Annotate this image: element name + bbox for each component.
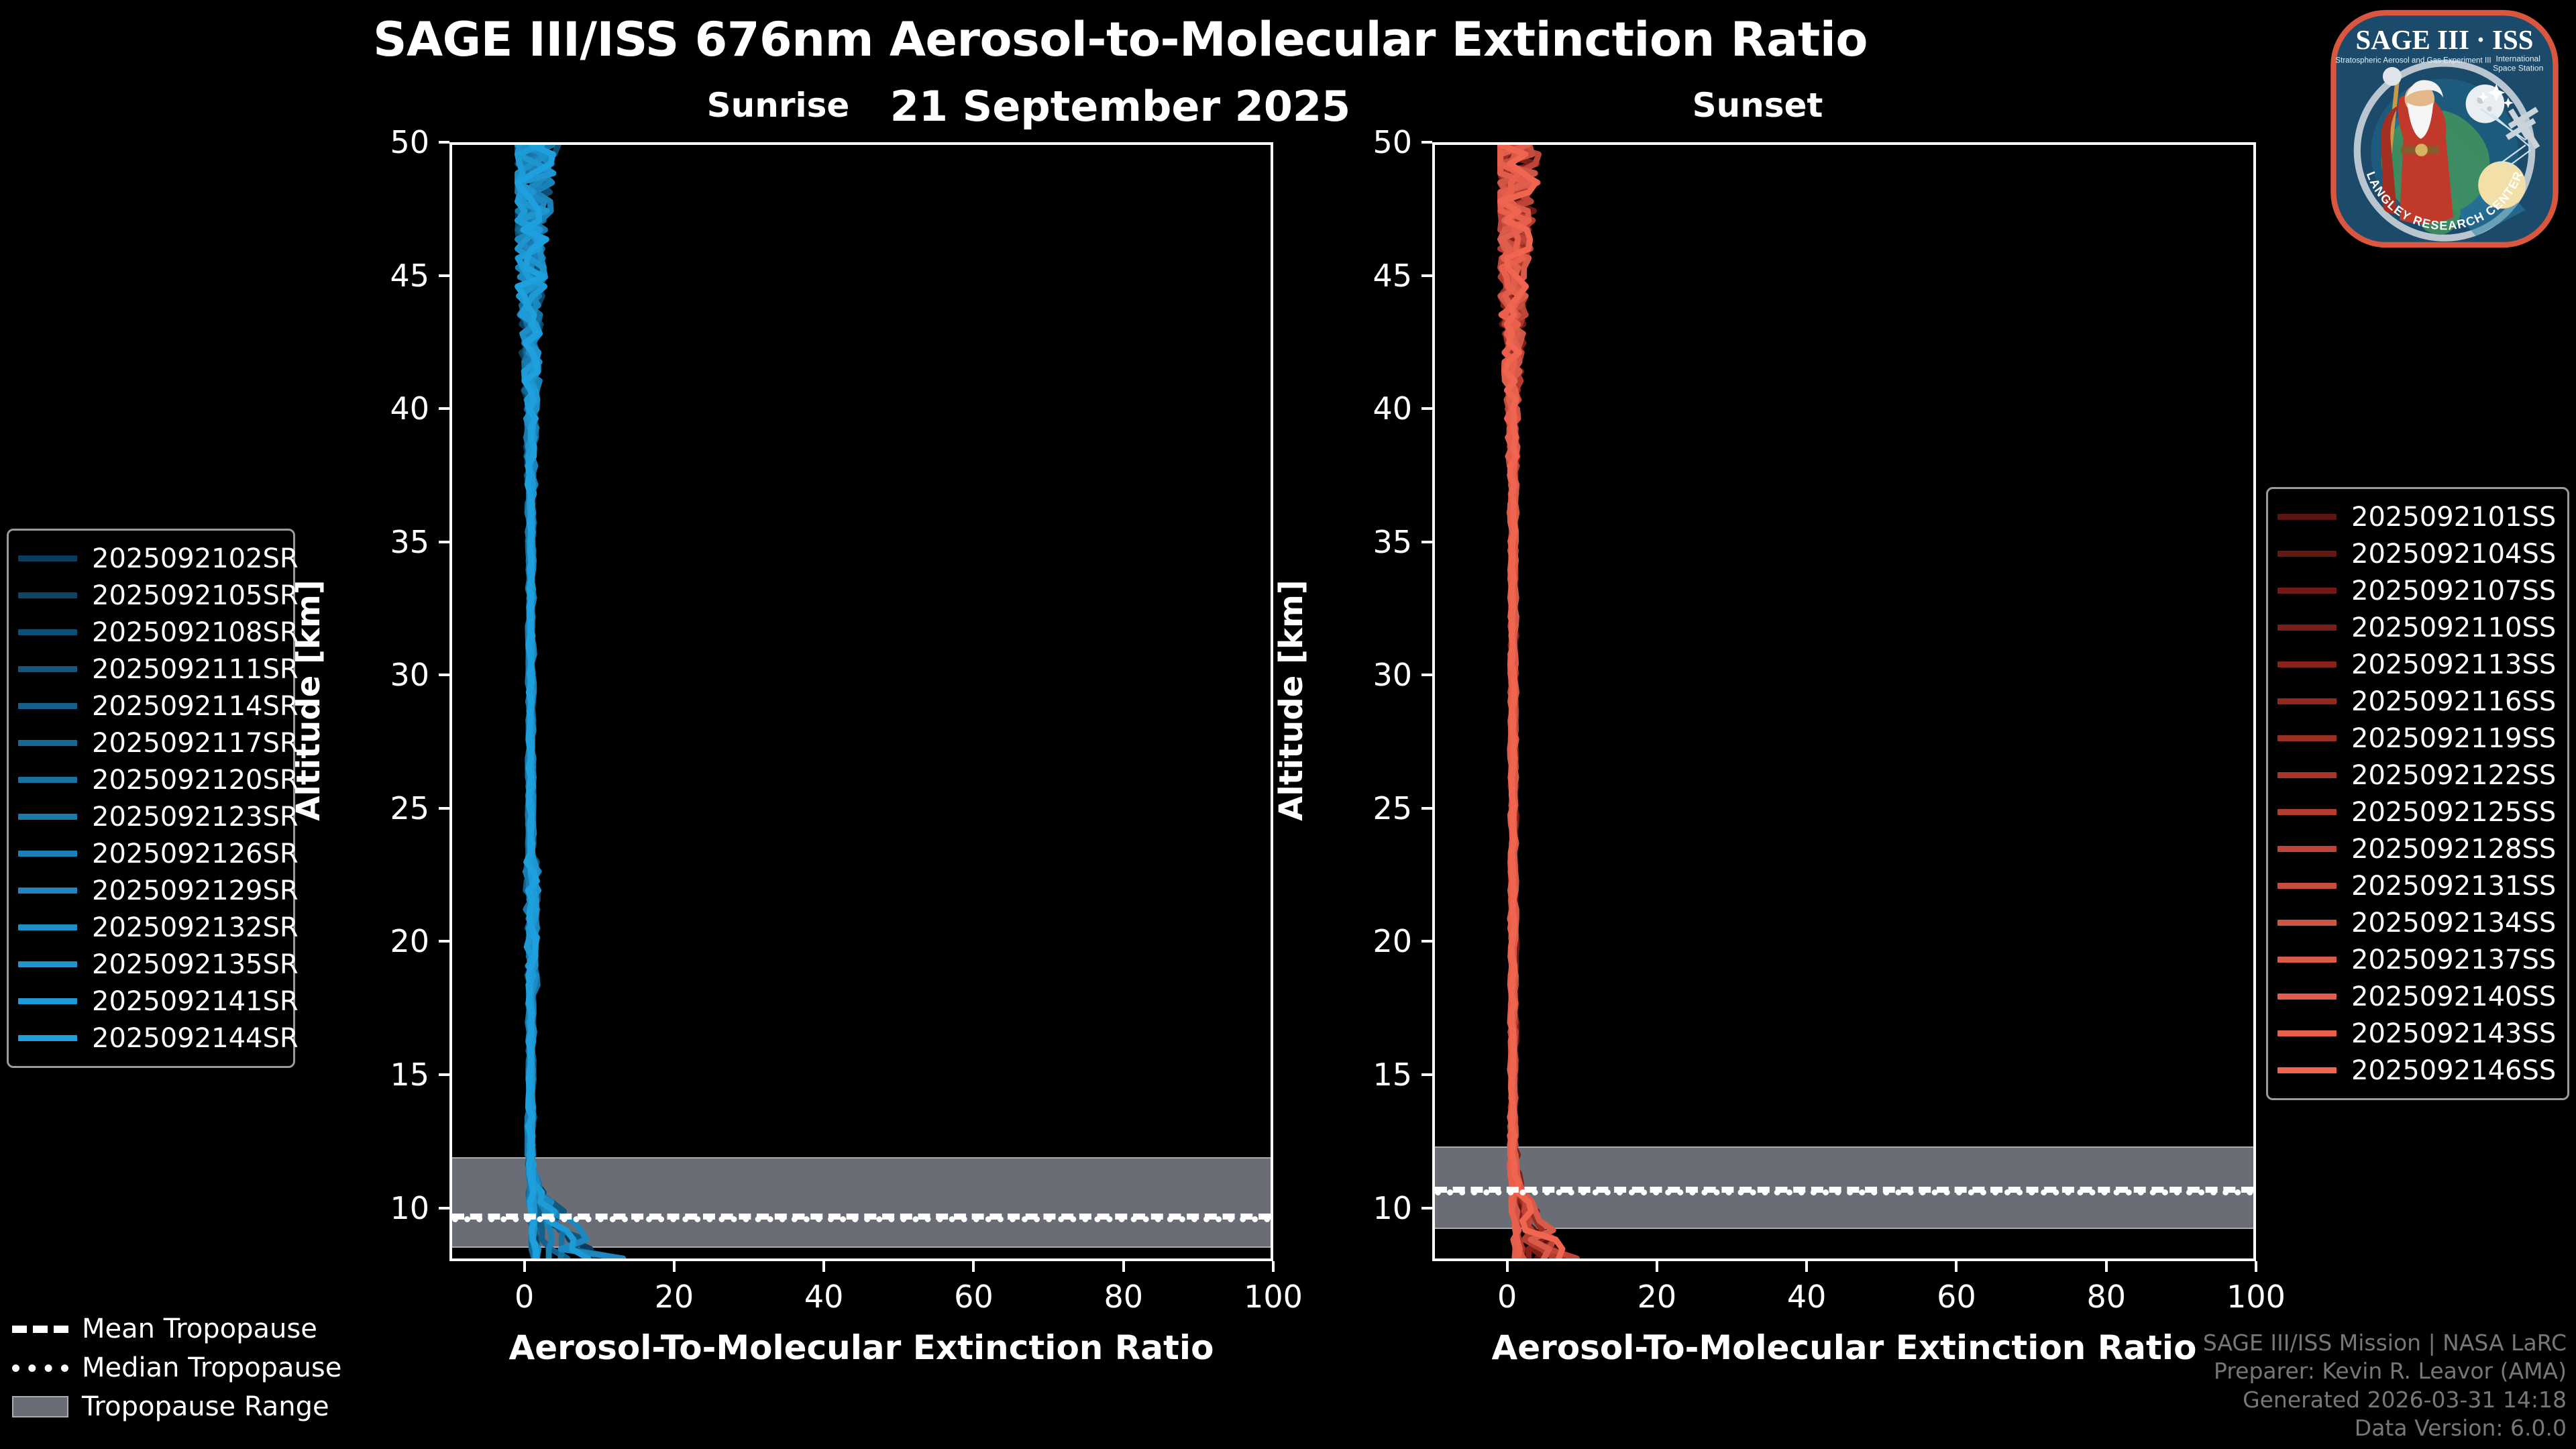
y-axis-tick-label: 10 [1332, 1190, 1412, 1226]
legend-color-swatch [2277, 735, 2337, 741]
y-axis-tick [439, 541, 449, 543]
x-axis-tick [2255, 1261, 2257, 1272]
x-axis-tick [523, 1261, 526, 1272]
legend-color-swatch [2277, 698, 2337, 704]
legend-item-2025092137SS[interactable]: 2025092137SS [2277, 941, 2557, 978]
legend-color-swatch [18, 703, 77, 709]
x-axis-tick-label: 0 [1497, 1279, 1517, 1315]
legend-color-swatch [2277, 514, 2337, 520]
x-axis-tick-label: 80 [1104, 1279, 1143, 1315]
legend-event-label: 2025092119SS [2351, 723, 2556, 754]
legend-item-2025092135SR[interactable]: 2025092135SR [18, 946, 282, 983]
x-axis-tick [673, 1261, 676, 1272]
legend-color-swatch [2277, 920, 2337, 926]
y-axis-tick-label: 15 [1332, 1057, 1412, 1093]
legend-event-label: 2025092108SR [92, 617, 299, 648]
legend-color-swatch [2277, 809, 2337, 815]
legend-item-2025092143SS[interactable]: 2025092143SS [2277, 1015, 2557, 1052]
y-axis-tick-label: 50 [349, 124, 429, 160]
legend-item-2025092105SR[interactable]: 2025092105SR [18, 577, 282, 614]
legend-event-label: 2025092131SS [2351, 871, 2556, 902]
legend-item-2025092129SR[interactable]: 2025092129SR [18, 872, 282, 909]
legend-event-label: 2025092110SS [2351, 612, 2556, 643]
legend-color-swatch [18, 666, 77, 672]
y-axis-tick [439, 940, 449, 943]
legend-event-label: 2025092120SR [92, 765, 299, 796]
y-axis-tick [1421, 674, 1432, 676]
legend-color-swatch [2277, 883, 2337, 889]
date-subtitle: 21 September 2025 [0, 82, 2241, 131]
legend-item-2025092126SR[interactable]: 2025092126SR [18, 835, 282, 872]
y-axis-tick [1421, 807, 1432, 810]
y-axis-tick [439, 1073, 449, 1076]
dotted-line-icon [12, 1358, 68, 1378]
legend-item-2025092104SS[interactable]: 2025092104SS [2277, 535, 2557, 572]
legend-item-2025092134SS[interactable]: 2025092134SS [2277, 904, 2557, 941]
median-tropopause-label: Median Tropopause [82, 1352, 341, 1383]
legend-event-label: 2025092126SR [92, 839, 299, 869]
x-axis-tick-label: 100 [2226, 1279, 2286, 1315]
legend-item-2025092119SS[interactable]: 2025092119SS [2277, 720, 2557, 757]
credits-block: SAGE III/ISS Mission | NASA LaRC Prepare… [2203, 1329, 2567, 1442]
legend-event-label: 2025092105SR [92, 580, 299, 611]
sunrise-series-legend[interactable]: 2025092102SR2025092105SR2025092108SR2025… [7, 529, 295, 1068]
x-axis-tick-label: 40 [1787, 1279, 1827, 1315]
credits-line-preparer: Preparer: Kevin R. Leavor (AMA) [2203, 1357, 2567, 1385]
legend-color-swatch [2277, 551, 2337, 557]
y-axis-tick [1421, 274, 1432, 277]
x-axis-tick [1955, 1261, 1957, 1272]
svg-text:International: International [2495, 54, 2540, 64]
legend-event-label: 2025092132SR [92, 912, 299, 943]
legend-item-2025092141SR[interactable]: 2025092141SR [18, 983, 282, 1020]
y-axis-tick [1421, 940, 1432, 943]
sunset-x-axis-label: Aerosol-To-Molecular Extinction Ratio [1432, 1328, 2256, 1367]
y-axis-tick [1421, 407, 1432, 410]
y-axis-tick [1421, 141, 1432, 144]
legend-item-2025092123SR[interactable]: 2025092123SR [18, 798, 282, 835]
sunset-panel-title: Sunset [1677, 86, 1838, 125]
legend-item-2025092146SS[interactable]: 2025092146SS [2277, 1052, 2557, 1089]
legend-event-label: 2025092125SS [2351, 797, 2556, 828]
filled-band-icon [12, 1397, 68, 1417]
legend-item-2025092111SR[interactable]: 2025092111SR [18, 651, 282, 688]
legend-event-label: 2025092143SS [2351, 1018, 2556, 1049]
legend-color-swatch [18, 777, 77, 783]
legend-color-swatch [18, 888, 77, 894]
legend-color-swatch [18, 961, 77, 967]
tropopause-range-label: Tropopause Range [82, 1391, 329, 1422]
legend-color-swatch [18, 998, 77, 1004]
x-axis-tick-label: 0 [515, 1279, 534, 1315]
legend-event-label: 2025092114SR [92, 691, 299, 722]
mean-tropopause-line [1435, 1187, 2253, 1193]
y-axis-tick [439, 274, 449, 277]
y-axis-tick [439, 807, 449, 810]
y-axis-tick [1421, 1073, 1432, 1076]
legend-item-2025092102SR[interactable]: 2025092102SR [18, 540, 282, 577]
y-axis-tick-label: 35 [349, 524, 429, 560]
sage-iii-iss-logo-icon: SAGE III · ISS Stratospheric Aerosol and… [2320, 4, 2569, 254]
y-axis-tick [1421, 1207, 1432, 1210]
legend-color-swatch [2277, 588, 2337, 594]
x-axis-tick-label: 80 [2086, 1279, 2126, 1315]
tropopause-legend: Mean Tropopause Median Tropopause Tropop… [12, 1309, 334, 1426]
legend-item-median-tropopause: Median Tropopause [12, 1348, 334, 1387]
legend-color-swatch [18, 1035, 77, 1041]
x-axis-tick-label: 20 [1638, 1279, 1677, 1315]
legend-color-swatch [2277, 772, 2337, 778]
legend-color-swatch [18, 629, 77, 635]
sunset-series-legend[interactable]: 2025092101SS2025092104SS2025092107SS2025… [2266, 487, 2569, 1100]
sunrise-plot-area [449, 142, 1273, 1261]
legend-event-label: 2025092129SR [92, 875, 299, 906]
y-axis-tick-label: 20 [1332, 923, 1412, 959]
page-title: SAGE III/ISS 676nm Aerosol-to-Molecular … [0, 12, 2241, 67]
legend-event-label: 2025092134SS [2351, 908, 2556, 938]
legend-event-label: 2025092128SS [2351, 834, 2556, 865]
y-axis-tick-label: 50 [1332, 124, 1412, 160]
y-axis-tick-label: 20 [349, 923, 429, 959]
legend-item-2025092144SR[interactable]: 2025092144SR [18, 1020, 282, 1057]
y-axis-tick [439, 407, 449, 410]
legend-item-2025092122SS[interactable]: 2025092122SS [2277, 757, 2557, 794]
sunrise-profile-traces [452, 145, 1271, 1258]
legend-item-2025092131SS[interactable]: 2025092131SS [2277, 867, 2557, 904]
legend-event-label: 2025092135SR [92, 949, 299, 980]
x-axis-tick [1805, 1261, 1808, 1272]
legend-color-swatch [18, 851, 77, 857]
legend-event-label: 2025092117SR [92, 728, 299, 759]
legend-color-swatch [18, 814, 77, 820]
y-axis-tick-label: 30 [349, 657, 429, 693]
y-axis-tick [439, 141, 449, 144]
y-axis-tick-label: 45 [349, 258, 429, 294]
legend-event-label: 2025092116SS [2351, 686, 2556, 717]
legend-color-swatch [2277, 1067, 2337, 1073]
y-axis-tick-label: 25 [1332, 790, 1412, 826]
credits-line-generated: Generated 2026-03-31 14:18 [2203, 1386, 2567, 1414]
legend-event-label: 2025092144SR [92, 1023, 299, 1054]
sunrise-panel-title: Sunrise [698, 86, 859, 125]
legend-item-2025092140SS[interactable]: 2025092140SS [2277, 978, 2557, 1015]
x-axis-tick-label: 100 [1244, 1279, 1303, 1315]
legend-event-label: 2025092113SS [2351, 649, 2556, 680]
legend-event-label: 2025092111SR [92, 654, 299, 685]
legend-item-2025092132SR[interactable]: 2025092132SR [18, 909, 282, 946]
legend-item-2025092125SS[interactable]: 2025092125SS [2277, 794, 2557, 830]
legend-color-swatch [18, 740, 77, 746]
legend-event-label: 2025092102SR [92, 543, 299, 574]
sunset-profile-traces [1435, 145, 2253, 1258]
legend-event-label: 2025092104SS [2351, 539, 2556, 570]
legend-item-mean-tropopause: Mean Tropopause [12, 1309, 334, 1348]
x-axis-tick-label: 60 [1937, 1279, 1976, 1315]
sunrise-x-axis-label: Aerosol-To-Molecular Extinction Ratio [449, 1328, 1273, 1367]
y-axis-tick-label: 45 [1332, 258, 1412, 294]
x-axis-tick [822, 1261, 825, 1272]
legend-item-2025092101SS[interactable]: 2025092101SS [2277, 498, 2557, 535]
x-axis-tick [1272, 1261, 1275, 1272]
legend-event-label: 2025092146SS [2351, 1055, 2556, 1086]
legend-event-label: 2025092141SR [92, 986, 299, 1017]
legend-item-2025092120SR[interactable]: 2025092120SR [18, 761, 282, 798]
legend-color-swatch [18, 555, 77, 561]
x-axis-tick [2105, 1261, 2108, 1272]
x-axis-tick [1656, 1261, 1658, 1272]
legend-color-swatch [2277, 994, 2337, 1000]
legend-color-swatch [2277, 625, 2337, 631]
legend-item-2025092117SR[interactable]: 2025092117SR [18, 724, 282, 761]
mean-tropopause-label: Mean Tropopause [82, 1313, 317, 1344]
x-axis-tick-label: 60 [954, 1279, 994, 1315]
legend-event-label: 2025092107SS [2351, 576, 2556, 606]
y-axis-tick-label: 40 [349, 390, 429, 427]
x-axis-tick-label: 40 [804, 1279, 844, 1315]
legend-item-2025092116SS[interactable]: 2025092116SS [2277, 683, 2557, 720]
legend-color-swatch [18, 924, 77, 930]
legend-item-2025092114SR[interactable]: 2025092114SR [18, 688, 282, 724]
y-axis-tick-label: 25 [349, 790, 429, 826]
y-axis-tick [439, 1207, 449, 1210]
credits-line-mission: SAGE III/ISS Mission | NASA LaRC [2203, 1329, 2567, 1357]
legend-color-swatch [2277, 957, 2337, 963]
legend-color-swatch [2277, 846, 2337, 852]
svg-text:SAGE III · ISS: SAGE III · ISS [2356, 25, 2534, 55]
x-axis-tick [1506, 1261, 1509, 1272]
legend-item-tropopause-range: Tropopause Range [12, 1387, 334, 1426]
svg-text:Stratospheric Aerosol and Gas: Stratospheric Aerosol and Gas Experiment… [2335, 56, 2491, 64]
legend-event-label: 2025092101SS [2351, 502, 2556, 533]
y-axis-tick-label: 30 [1332, 657, 1412, 693]
svg-text:Space Station: Space Station [2493, 64, 2543, 73]
sunset-y-axis-label: Altitude [km] [1273, 559, 1310, 841]
credits-line-version: Data Version: 6.0.0 [2203, 1414, 2567, 1442]
legend-event-label: 2025092137SS [2351, 945, 2556, 975]
sunset-plot-area [1432, 142, 2256, 1261]
legend-item-2025092128SS[interactable]: 2025092128SS [2277, 830, 2557, 867]
legend-event-label: 2025092122SS [2351, 760, 2556, 791]
y-axis-tick [1421, 541, 1432, 543]
x-axis-tick [1122, 1261, 1125, 1272]
y-axis-tick [439, 674, 449, 676]
dashed-line-icon [12, 1319, 68, 1339]
legend-item-2025092113SS[interactable]: 2025092113SS [2277, 646, 2557, 683]
legend-color-swatch [2277, 1030, 2337, 1036]
legend-item-2025092107SS[interactable]: 2025092107SS [2277, 572, 2557, 609]
legend-item-2025092108SR[interactable]: 2025092108SR [18, 614, 282, 651]
y-axis-tick-label: 40 [1332, 390, 1412, 427]
y-axis-tick-label: 35 [1332, 524, 1412, 560]
legend-color-swatch [2277, 661, 2337, 667]
x-axis-tick [972, 1261, 975, 1272]
mean-tropopause-line [452, 1214, 1271, 1220]
y-axis-tick-label: 15 [349, 1057, 429, 1093]
legend-event-label: 2025092140SS [2351, 981, 2556, 1012]
legend-color-swatch [18, 592, 77, 598]
x-axis-tick-label: 20 [655, 1279, 694, 1315]
y-axis-tick-label: 10 [349, 1190, 429, 1226]
legend-item-2025092110SS[interactable]: 2025092110SS [2277, 609, 2557, 646]
legend-event-label: 2025092123SR [92, 802, 299, 833]
